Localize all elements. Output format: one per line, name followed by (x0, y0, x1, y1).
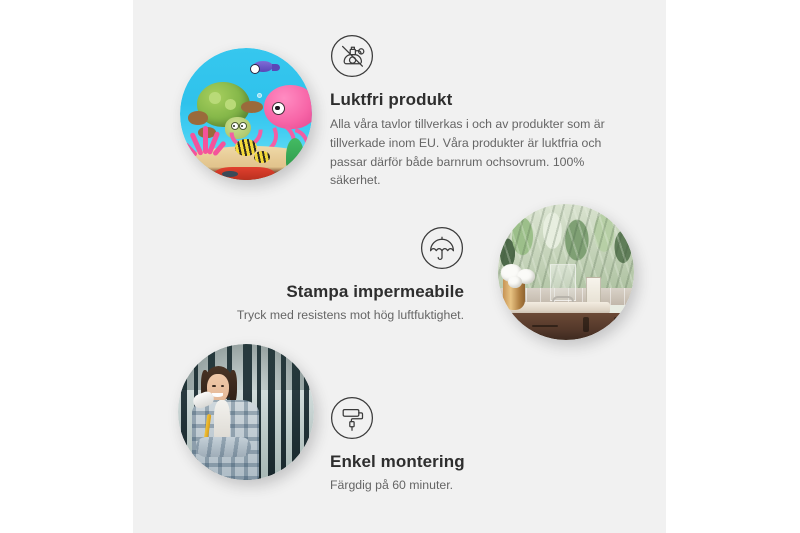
feature-waterproof-print: Stampa impermeabile Tryck med resistens … (182, 226, 464, 325)
feature-title: Luktfri produkt (330, 90, 622, 110)
umbrella-icon (420, 226, 464, 270)
feature-description: Tryck med resistens mot hög luftfuktighe… (182, 306, 464, 325)
seaweed (286, 138, 304, 170)
paint-roller-icon (330, 396, 374, 440)
wood-vanity-cabinet (498, 313, 634, 340)
product-features-panel: Luktfri produkt Alla våra tavlor tillver… (0, 0, 800, 533)
fish-striped-icon (254, 151, 270, 163)
turtle-flipper (241, 101, 263, 113)
feature-description: Färgdig på 60 minuter. (330, 476, 590, 495)
perfume-bottle-crossed-out-icon (330, 34, 374, 78)
woman-figure (189, 366, 262, 480)
woman-white-tee (214, 400, 230, 439)
woman-folded-arms (196, 437, 250, 458)
photo-underwater-scene (180, 48, 312, 180)
feature-title: Stampa impermeabile (182, 282, 464, 302)
feature-description: Alla våra tavlor tillverkas i och av pro… (330, 115, 622, 190)
feature-title: Enkel montering (330, 452, 590, 472)
turtle-flipper (188, 111, 208, 124)
bubble-icon (257, 93, 262, 98)
photo-bathroom-tropical-wallpaper (498, 204, 634, 340)
fish-eye-icon (250, 64, 260, 74)
photo-woman-with-paint-roller-forest (178, 344, 314, 480)
feature-odour-free: Luktfri produkt Alla våra tavlor tillver… (330, 34, 622, 190)
feature-easy-mounting: Enkel montering Färgdig på 60 minuter. (330, 396, 590, 495)
coral-pink (185, 126, 225, 166)
